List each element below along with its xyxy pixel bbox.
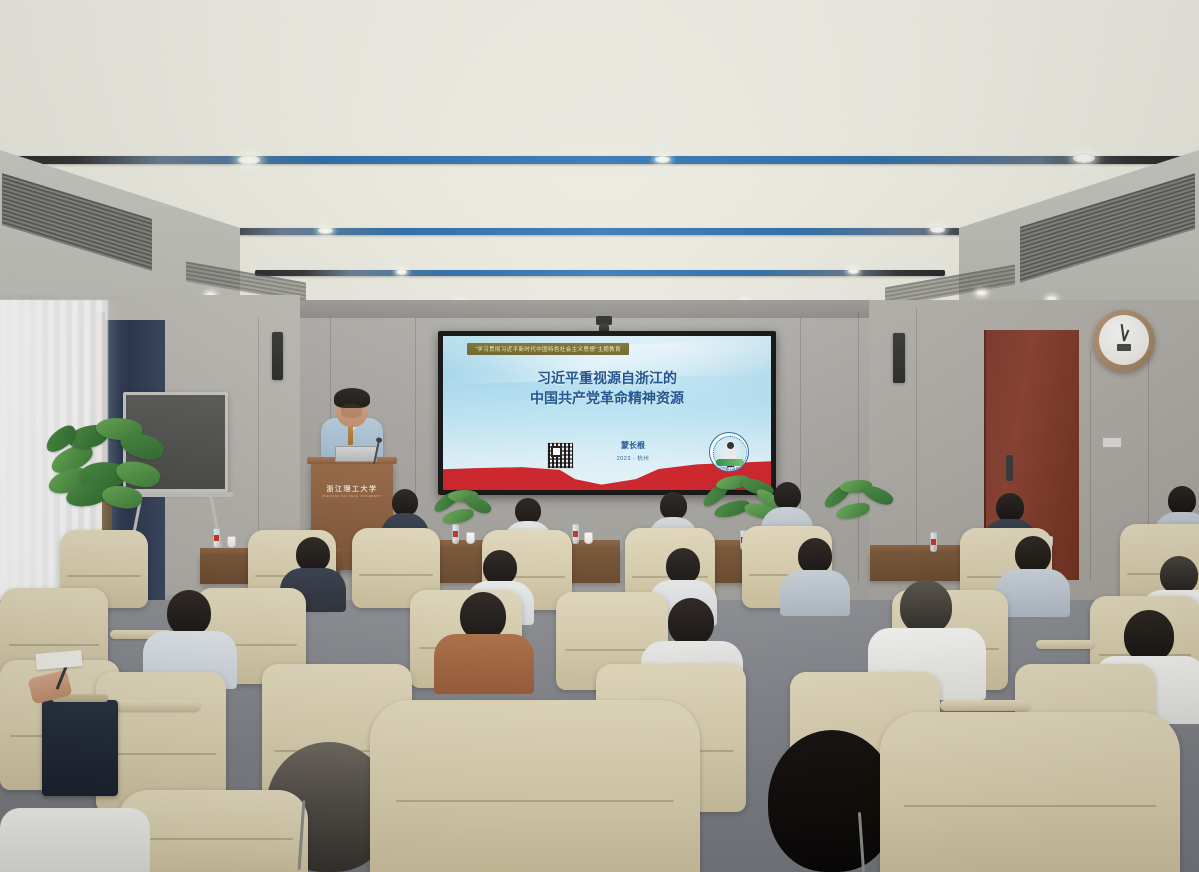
downlight-icon: [396, 269, 407, 275]
presenter-face: [341, 404, 362, 418]
briefcase: [42, 700, 118, 796]
ceiling-panel: [0, 0, 1199, 160]
wall-speaker-left: [272, 332, 283, 380]
clock-minute-hand: [1121, 324, 1125, 341]
ceiling: [0, 0, 1199, 330]
chair-armrest: [1036, 640, 1094, 649]
slide-banner-text: “学习贯彻习近平新时代中国特色社会主义思想”主题教育: [467, 343, 629, 355]
slide-title-line2: 中国共产党革命精神资源: [443, 388, 771, 408]
clock-date-window: [1117, 344, 1131, 351]
paper-cup: [584, 532, 593, 544]
chair-foreground-right[interactable]: [880, 712, 1180, 872]
downlight-icon: [318, 227, 333, 234]
chair-foreground-center[interactable]: [370, 700, 700, 872]
attendee-shoulder-foreground: [0, 808, 150, 872]
slide-content: “学习贯彻习近平新时代中国特色社会主义思想”主题教育 习近平重视源自浙江的 中国…: [443, 336, 771, 490]
ceiling-beam-front: [0, 156, 1199, 164]
downlight-icon: [848, 268, 859, 274]
paper-cup: [466, 532, 475, 544]
ceiling-beam-mid: [160, 228, 1040, 235]
water-bottle: [213, 528, 220, 548]
laptop-icon: [335, 446, 377, 462]
door-handle-icon[interactable]: [1006, 455, 1013, 481]
conference-room-photo: “学习贯彻习近平新时代中国特色社会主义思想”主题教育 习近平重视源自浙江的 中国…: [0, 0, 1199, 872]
ceiling-beam-back: [255, 270, 945, 276]
clock-face: [1099, 315, 1149, 365]
wall-switch-plate[interactable]: [1102, 437, 1122, 448]
paper-cup: [227, 536, 236, 548]
university-logo-icon: 浙江理工大学: [709, 432, 749, 472]
chair-armrest: [940, 700, 1030, 711]
slide-date-location: 2023 · 杭州: [593, 454, 673, 462]
presenter-tie: [348, 425, 353, 445]
downlight-icon: [238, 155, 260, 165]
slide-title-line1: 习近平重视源自浙江的: [443, 368, 771, 388]
slide-speaker-name: 蒙长根: [593, 440, 673, 451]
wall-seam: [916, 308, 917, 583]
downlight-icon: [930, 226, 945, 233]
downlight-icon: [976, 290, 987, 296]
wall-clock: [1093, 310, 1155, 372]
qr-code-icon: [547, 442, 574, 469]
water-bottle: [930, 532, 937, 552]
water-bottle: [452, 524, 459, 544]
downlight-icon: [655, 156, 670, 163]
projection-screen[interactable]: “学习贯彻习近平新时代中国特色社会主义思想”主题教育 习近平重视源自浙江的 中国…: [438, 331, 776, 495]
podium-institution-en: ZHEJIANG SCI-TECH UNIVERSITY: [311, 494, 393, 498]
water-bottle: [572, 524, 579, 544]
logo-caption: 浙江理工大学: [710, 466, 748, 471]
podium-institution-cn: 浙江理工大学: [311, 484, 393, 494]
wall-seam: [1090, 350, 1091, 580]
downlight-icon: [1073, 153, 1095, 163]
wall-speaker-right: [893, 333, 905, 383]
slide-title: 习近平重视源自浙江的 中国共产党革命精神资源: [443, 368, 771, 408]
